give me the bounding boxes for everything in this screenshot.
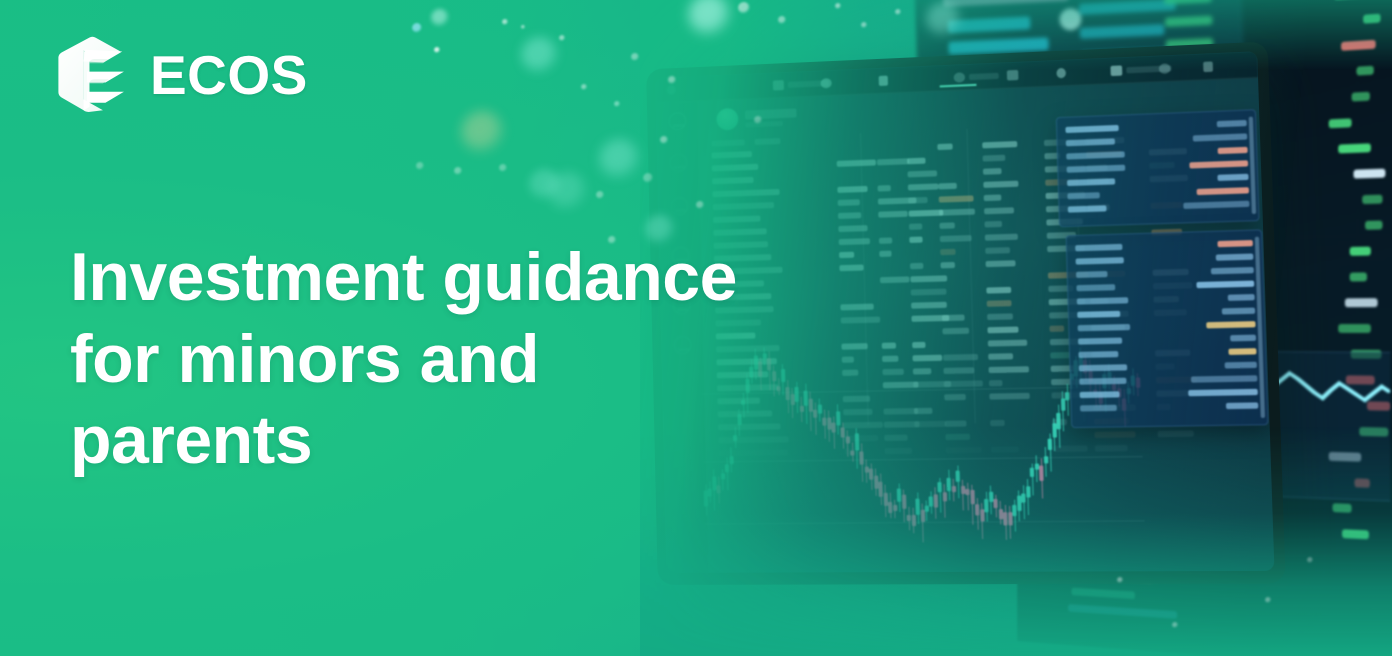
bokeh-dot — [431, 9, 449, 27]
bokeh-dot — [614, 101, 620, 107]
table-cell — [838, 199, 861, 206]
brand-logo[interactable]: ECOS — [50, 33, 308, 117]
bell-icon[interactable] — [879, 76, 888, 86]
panel-label — [1080, 391, 1120, 398]
monitor-row — [1165, 15, 1213, 26]
monitor-row — [1068, 604, 1177, 619]
panel-label — [1066, 138, 1116, 146]
search-icon[interactable] — [773, 80, 784, 90]
panel-value — [1193, 133, 1248, 141]
monitor-row — [1164, 0, 1212, 5]
table-cell — [839, 238, 870, 245]
panel-label — [1077, 311, 1120, 318]
ecos-cube-logo-icon — [50, 33, 134, 117]
table-cell — [908, 170, 937, 177]
panel-value — [1218, 240, 1253, 247]
panel-label — [1079, 378, 1127, 385]
table-cell — [910, 263, 923, 269]
bokeh-dot — [521, 37, 559, 75]
panel-label — [1066, 151, 1124, 159]
table-cell — [940, 235, 972, 242]
dashboard-icon[interactable] — [669, 112, 687, 130]
monitor-price-tick — [1363, 14, 1381, 24]
monitor-price-tick — [1352, 92, 1370, 102]
bokeh-dot — [434, 47, 440, 53]
panel-value — [1184, 201, 1250, 209]
chart-gridline — [705, 520, 1145, 524]
panel-value — [1218, 120, 1248, 127]
dashboard-logo-icon — [717, 108, 739, 131]
monitor-price-tick — [1356, 66, 1373, 76]
brand-wordmark: ECOS — [150, 48, 308, 103]
panel-label — [1077, 297, 1128, 304]
monitor-price-tick — [1338, 324, 1371, 333]
monitor-price-tick — [1350, 247, 1371, 256]
panel-label — [1080, 405, 1116, 412]
table-cell — [880, 251, 892, 257]
grid-icon[interactable] — [1007, 70, 1019, 81]
table-cell — [909, 223, 922, 229]
panel-value — [1230, 335, 1256, 342]
table-cell — [983, 155, 1005, 162]
bokeh-dot — [529, 169, 561, 201]
monitor-price-tick — [1341, 40, 1376, 51]
table-cell — [841, 304, 874, 311]
table-cell — [984, 181, 1019, 188]
table-cell — [983, 168, 1002, 175]
monitor-price-tick — [1365, 220, 1382, 229]
topbar-active-indicator — [940, 84, 977, 88]
panel-value — [1226, 402, 1259, 409]
page-title: Investment guidance for minors and paren… — [70, 237, 830, 482]
panel-value — [1197, 187, 1249, 195]
bokeh-dot — [581, 84, 587, 90]
table-cell — [713, 216, 761, 224]
search-icon[interactable] — [1159, 63, 1171, 74]
monitor-row — [1079, 0, 1176, 15]
menu-icon[interactable] — [667, 85, 676, 95]
panel-value — [1222, 308, 1256, 315]
portfolio-icon[interactable] — [670, 154, 688, 172]
panel-value — [1224, 362, 1257, 369]
monitor-price-tick — [1342, 529, 1369, 539]
bokeh-dot — [454, 167, 462, 175]
bokeh-dot — [461, 111, 505, 155]
table-cell — [911, 289, 947, 296]
table-cell — [984, 207, 1014, 214]
panel-value — [1206, 321, 1255, 328]
bokeh-dot — [499, 164, 507, 172]
filter-icon[interactable] — [1203, 61, 1213, 72]
table-cell — [939, 183, 957, 190]
panel-label — [1076, 271, 1107, 278]
table-cell — [984, 194, 1002, 201]
dashboard-panel-lower — [1066, 229, 1269, 428]
table-header-cell — [712, 139, 746, 146]
panel-label — [1068, 205, 1106, 212]
monitor-row — [948, 16, 1031, 33]
table-cell — [911, 275, 948, 282]
monitor-row — [1080, 24, 1165, 39]
monitor-row — [943, 0, 1069, 7]
table-header-cell — [755, 138, 781, 145]
panel-value — [1218, 174, 1249, 181]
table-cell — [838, 186, 869, 193]
monitor-glow-dot — [1059, 8, 1081, 31]
table-cell — [713, 189, 780, 197]
table-cell — [985, 234, 1019, 241]
table-cell — [940, 249, 955, 256]
promo-banner: ECOS Investment guidance for minors and … — [0, 0, 1392, 656]
bokeh-dot — [631, 53, 639, 61]
monitor-price-tick — [1338, 143, 1371, 153]
panel-label — [1079, 351, 1119, 358]
table-cell — [1158, 430, 1194, 437]
headline-line-2: for minors and — [70, 319, 830, 401]
panel-label — [1067, 165, 1125, 173]
dashboard-brand-text — [745, 108, 797, 127]
table-cell — [910, 237, 923, 243]
table-cell — [712, 151, 753, 158]
panel-value — [1190, 160, 1248, 168]
panel-scrollbar[interactable] — [1249, 117, 1257, 214]
panel-label — [1079, 364, 1127, 371]
user-icon[interactable] — [1057, 68, 1067, 79]
panel-label — [1068, 192, 1101, 199]
bokeh-dot — [548, 172, 588, 212]
table-cell — [987, 300, 1012, 307]
table-cell — [712, 177, 754, 184]
table-cell — [713, 202, 774, 210]
panel-value — [1211, 267, 1254, 274]
table-cell — [879, 211, 909, 218]
table-cell — [982, 141, 1017, 148]
table-cell — [712, 164, 758, 172]
panel-label — [1076, 257, 1124, 265]
topbar-label — [969, 73, 999, 80]
dashboard-topbar — [655, 51, 1258, 103]
table-cell — [908, 183, 939, 190]
table-cell — [987, 287, 1012, 294]
panel-value — [1216, 253, 1254, 260]
bokeh-dot — [596, 191, 604, 199]
table-cell — [985, 221, 1003, 228]
table-cell — [838, 212, 861, 219]
table-cell — [839, 252, 855, 258]
monitor-price-tick — [1345, 298, 1377, 307]
panel-label — [1078, 324, 1131, 331]
table-cell — [985, 247, 1010, 254]
panel-label — [1066, 125, 1119, 133]
table-cell — [907, 158, 926, 165]
table-cell — [877, 158, 909, 165]
panel-value — [1229, 348, 1257, 355]
table-cell — [880, 276, 909, 283]
table-header — [712, 138, 781, 147]
bokeh-dot — [521, 25, 525, 29]
bokeh-dot — [412, 23, 422, 33]
headline-line-3: parents — [70, 400, 830, 482]
table-cell — [714, 228, 767, 236]
panel-label — [1078, 338, 1122, 345]
panel-value — [1218, 147, 1248, 154]
panel-value — [1228, 294, 1255, 301]
settings-icon[interactable] — [954, 72, 966, 83]
headline-line-1: Investment guidance — [70, 237, 830, 319]
panel-value — [1189, 389, 1258, 396]
bokeh-dot — [416, 162, 424, 170]
orders-icon[interactable] — [671, 197, 689, 215]
panel-value — [1196, 281, 1254, 289]
dashboard-brand — [717, 105, 798, 130]
panel-value — [1191, 375, 1258, 382]
table-cell — [938, 143, 953, 150]
table-cell — [940, 222, 956, 229]
table-cell — [879, 237, 892, 243]
monitor-price-tick — [1362, 195, 1383, 205]
dashboard-panel-upper — [1056, 109, 1260, 227]
monitor-price-tick — [1354, 169, 1385, 179]
panel-label — [1075, 244, 1122, 252]
table-cell — [840, 265, 864, 272]
bokeh-dot — [559, 35, 565, 41]
panel-label — [1077, 284, 1115, 291]
table-cell — [837, 159, 877, 166]
monitor-price-tick — [1349, 272, 1367, 281]
menu-icon[interactable] — [1111, 65, 1123, 76]
panel-label — [1067, 178, 1116, 186]
monitor-price-tick — [1333, 503, 1352, 513]
table-cell — [941, 262, 955, 268]
monitor-price-tick — [1328, 118, 1351, 128]
table-cell — [911, 302, 946, 309]
filter-icon[interactable] — [821, 78, 832, 88]
bokeh-dot — [599, 139, 641, 181]
table-cell — [878, 185, 892, 192]
table-cell — [986, 260, 1017, 267]
bokeh-dot — [502, 19, 508, 25]
monitor-row — [1072, 588, 1135, 599]
table-cell — [909, 197, 928, 204]
